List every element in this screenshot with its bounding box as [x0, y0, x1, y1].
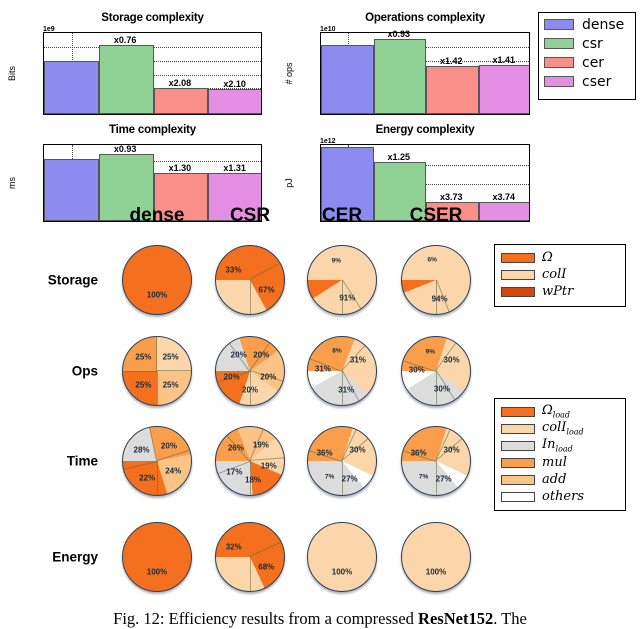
pie-slice-label: 28%	[133, 445, 149, 454]
speedup-label-operations-cser: x1.41	[492, 55, 515, 65]
row-label-ops: Ops	[10, 364, 98, 379]
speedup-label-time-csr: x0.93	[114, 144, 137, 154]
pie-slice-label: 100%	[426, 567, 446, 576]
speedup-label-storage-cser: x2.10	[223, 79, 246, 89]
pie-slice-label: 36%	[411, 448, 427, 457]
pie-slice-label: 9%	[332, 257, 341, 264]
pie-ops-breakdown-cer: 31%31%31%8%	[307, 336, 377, 406]
pie-slice-label: 24%	[165, 467, 181, 476]
ops-pie-legend: ΩloadcolIloadInloadmuladdothers	[494, 398, 626, 511]
speedup-label-time-cer: x1.30	[169, 163, 192, 173]
bar-operations-csr	[374, 39, 427, 114]
pie-slice-label: 30%	[350, 445, 366, 454]
pie-ops-breakdown-dense: 25%25%25%25%	[122, 336, 192, 406]
pie-slice-label: 20%	[161, 441, 177, 450]
pie-slice-label: 30%	[444, 445, 460, 454]
pie-time-breakdown-cser: 30%27%7%36%	[401, 426, 471, 496]
ops-legend-label-subscript: load	[556, 444, 573, 453]
pie-slice-label: 20%	[253, 351, 269, 360]
speedup-label-operations-cer: x1.42	[440, 56, 463, 66]
pie-slice-label: 20%	[231, 351, 247, 360]
storage-pie-legend: ΩcolIwPtr	[494, 244, 626, 307]
storage-legend-item: wPtr	[501, 283, 619, 300]
legend-item-dense: dense	[544, 15, 630, 34]
bar-storage-cser	[208, 89, 262, 114]
ops-legend-label: colIload	[542, 421, 584, 437]
ops-legend-label-subscript: load	[553, 410, 570, 419]
bar-storage-csr	[99, 45, 154, 114]
ops-legend-label: Inload	[542, 438, 573, 454]
plot-area-operations: 0.00.20.40.60.81.01.2	[320, 32, 530, 115]
legend-label-cer: cer	[582, 55, 604, 71]
bar-storage-dense	[44, 61, 99, 114]
legend-label-dense: dense	[582, 17, 624, 33]
pie-slice-label: 33%	[225, 266, 241, 275]
legend-item-csr: csr	[544, 34, 630, 53]
pie-ops-breakdown-csr: 20%20%20%20%20%	[215, 336, 285, 406]
pie-slice-label: 31%	[315, 364, 331, 373]
ops-legend-swatch	[501, 407, 535, 417]
ops-legend-swatch	[501, 458, 535, 468]
pie-slice-label: 20%	[242, 386, 258, 395]
pie-wedge-divider	[157, 370, 192, 371]
speedup-label-energy-cer: x3.73	[440, 192, 463, 202]
bar-energy-cser	[479, 202, 531, 222]
pie-slice-label: 19%	[253, 441, 269, 450]
pie-wedge-divider	[122, 371, 157, 372]
pie-wedge-divider	[157, 371, 158, 406]
pie-slice-label: 27%	[436, 474, 452, 483]
legend-swatch-cer	[544, 57, 574, 68]
pie-slice-label: 91%	[339, 294, 355, 303]
speedup-label-energy-cser: x3.74	[492, 192, 515, 202]
pie-disc	[401, 522, 471, 592]
pie-slice-label: 25%	[135, 380, 151, 389]
pie-slice-label: 32%	[226, 542, 242, 551]
pie-slice-label: 67%	[259, 285, 275, 294]
y-axis-label-energy: pJ	[284, 144, 294, 222]
pie-slice-label: 100%	[147, 567, 167, 576]
storage-legend-swatch	[501, 270, 535, 280]
pie-slice-label: 20%	[260, 372, 276, 381]
legend-label-cser: cser	[582, 74, 611, 90]
ops-legend-label: Ωload	[542, 404, 570, 420]
storage-legend-swatch	[501, 253, 535, 263]
legend-label-csr: csr	[582, 36, 603, 52]
y-axis-label-time: ms	[7, 144, 17, 222]
bar-operations-dense	[321, 45, 374, 114]
pie-slice-label: 25%	[135, 353, 151, 362]
pie-slice-label: 30%	[409, 366, 425, 375]
bar-operations-cser	[479, 65, 531, 114]
column-header-cser: CSER	[410, 205, 463, 227]
row-label-energy: Energy	[10, 550, 98, 565]
legend-item-cser: cser	[544, 72, 630, 91]
bar-time-dense	[44, 159, 99, 221]
ops-legend-swatch	[501, 475, 535, 485]
plot-area-storage: 0.00.51.01.52.02.53.0	[43, 32, 262, 115]
pie-slice-label: 25%	[163, 380, 179, 389]
caption-pre: Fig. 12: Efficiency results from a compr…	[113, 609, 418, 628]
storage-legend-item: Ω	[501, 249, 619, 266]
storage-legend-label: colI	[542, 268, 566, 281]
column-header-cer: CER	[322, 205, 362, 227]
ops-legend-label-subscript: load	[566, 427, 583, 436]
pie-energy-breakdown-dense: 100%	[122, 522, 192, 592]
bar-chart-storage: Storage complexity1e9Bits0.00.51.01.52.0…	[43, 14, 262, 119]
y-axis-label-storage: Bits	[7, 32, 17, 115]
pie-slice-label: 27%	[342, 474, 358, 483]
bar-operations-cer	[426, 66, 479, 114]
pie-disc	[122, 245, 192, 315]
pie-time-breakdown-dense: 20%24%22%28%	[122, 426, 192, 496]
ops-legend-label: add	[542, 473, 566, 486]
pie-slice-label: 31%	[350, 356, 366, 365]
legend-swatch-dense	[544, 19, 574, 30]
ops-legend-item: colIload	[501, 420, 619, 437]
pie-slice-label: 20%	[224, 372, 240, 381]
legend-swatch-csr	[544, 38, 574, 49]
pie-slice-label: 100%	[147, 290, 167, 299]
ops-legend-swatch	[501, 441, 535, 451]
chart-title-storage: Storage complexity	[43, 12, 262, 24]
ops-legend-swatch	[501, 492, 535, 502]
pie-energy-breakdown-csr: 68%32%	[215, 522, 285, 592]
pie-slice-label: 25%	[163, 353, 179, 362]
ops-legend-item: Inload	[501, 437, 619, 454]
speedup-label-energy-csr: x1.25	[387, 152, 410, 162]
y-axis-label-operations: # ops	[284, 32, 294, 115]
chart-title-operations: Operations complexity	[320, 12, 530, 24]
pie-slice-label: 30%	[434, 385, 450, 394]
chart-title-time: Time complexity	[43, 124, 262, 136]
storage-legend-item: colI	[501, 266, 619, 283]
pie-slice-label: 100%	[332, 567, 352, 576]
pie-slice-label: 17%	[226, 468, 242, 477]
pie-storage-breakdown-dense: 100%	[122, 245, 192, 315]
ops-legend-swatch	[501, 424, 535, 434]
storage-legend-label: wPtr	[542, 285, 573, 298]
pie-slice-label: 36%	[317, 448, 333, 457]
pie-time-breakdown-cer: 30%27%7%36%	[307, 426, 377, 496]
pie-energy-breakdown-cser: 100%	[401, 522, 471, 592]
ops-legend-item: mul	[501, 454, 619, 471]
figure-root: Storage complexity1e9Bits0.00.51.01.52.0…	[0, 0, 640, 629]
pie-wedge-divider	[250, 280, 251, 315]
legend-item-cer: cer	[544, 53, 630, 72]
speedup-label-storage-cer: x2.08	[169, 78, 192, 88]
pie-slice-label: 22%	[139, 473, 155, 482]
pie-ops-breakdown-cser: 30%30%30%9%	[401, 336, 471, 406]
caption-model-name: ResNet152	[418, 609, 493, 628]
chart-title-energy: Energy complexity	[320, 124, 530, 136]
pie-disc	[122, 522, 192, 592]
ops-legend-label: others	[542, 490, 584, 503]
bar-chart-legend: densecsrcercser	[538, 12, 636, 100]
pie-slice-label: 68%	[258, 563, 274, 572]
pie-slice-label: 7%	[325, 474, 334, 481]
storage-legend-swatch	[501, 287, 535, 297]
pie-disc	[307, 522, 377, 592]
pie-slice-label: 19%	[261, 461, 277, 470]
row-label-time: Time	[10, 454, 98, 469]
pie-wedge-divider	[250, 557, 251, 592]
caption-post: . The	[493, 609, 527, 628]
legend-swatch-cser	[544, 76, 574, 87]
pie-slice-label: 8%	[332, 348, 341, 355]
speedup-label-operations-csr: x0.93	[387, 29, 410, 39]
figure-caption: Fig. 12: Efficiency results from a compr…	[0, 609, 640, 629]
pie-wedge-divider	[157, 461, 158, 496]
ops-legend-item: Ωload	[501, 403, 619, 420]
pie-slice-label: 7%	[419, 474, 428, 481]
ops-legend-item: others	[501, 488, 619, 505]
pie-slice-label: 31%	[338, 385, 354, 394]
speedup-label-time-cser: x1.31	[223, 163, 246, 173]
pie-storage-breakdown-cer: 91%9%	[307, 245, 377, 315]
bar-storage-cer	[154, 88, 209, 114]
column-header-dense: dense	[130, 205, 185, 227]
pie-storage-breakdown-cser: 94%6%	[401, 245, 471, 315]
speedup-label-storage-csr: x0.76	[114, 35, 137, 45]
pie-slice-label: 26%	[228, 443, 244, 452]
pie-slice-label: 6%	[427, 257, 436, 264]
row-label-storage: Storage	[10, 273, 98, 288]
pie-energy-breakdown-cer: 100%	[307, 522, 377, 592]
storage-legend-label: Ω	[542, 251, 553, 264]
ops-legend-label: mul	[542, 456, 567, 469]
pie-wedge-divider	[156, 336, 157, 371]
pie-slice-label: 94%	[432, 294, 448, 303]
pie-slice-label: 9%	[426, 348, 435, 355]
pie-storage-breakdown-csr: 67%33%	[215, 245, 285, 315]
pie-slice-label: 30%	[444, 355, 460, 364]
pie-time-breakdown-csr: 19%19%18%17%26%	[215, 426, 285, 496]
column-header-csr: CSR	[230, 205, 270, 227]
ops-legend-item: add	[501, 471, 619, 488]
pie-slice-label: 18%	[245, 476, 261, 485]
bar-chart-operations: Operations complexity1e10# ops0.00.20.40…	[320, 14, 530, 119]
